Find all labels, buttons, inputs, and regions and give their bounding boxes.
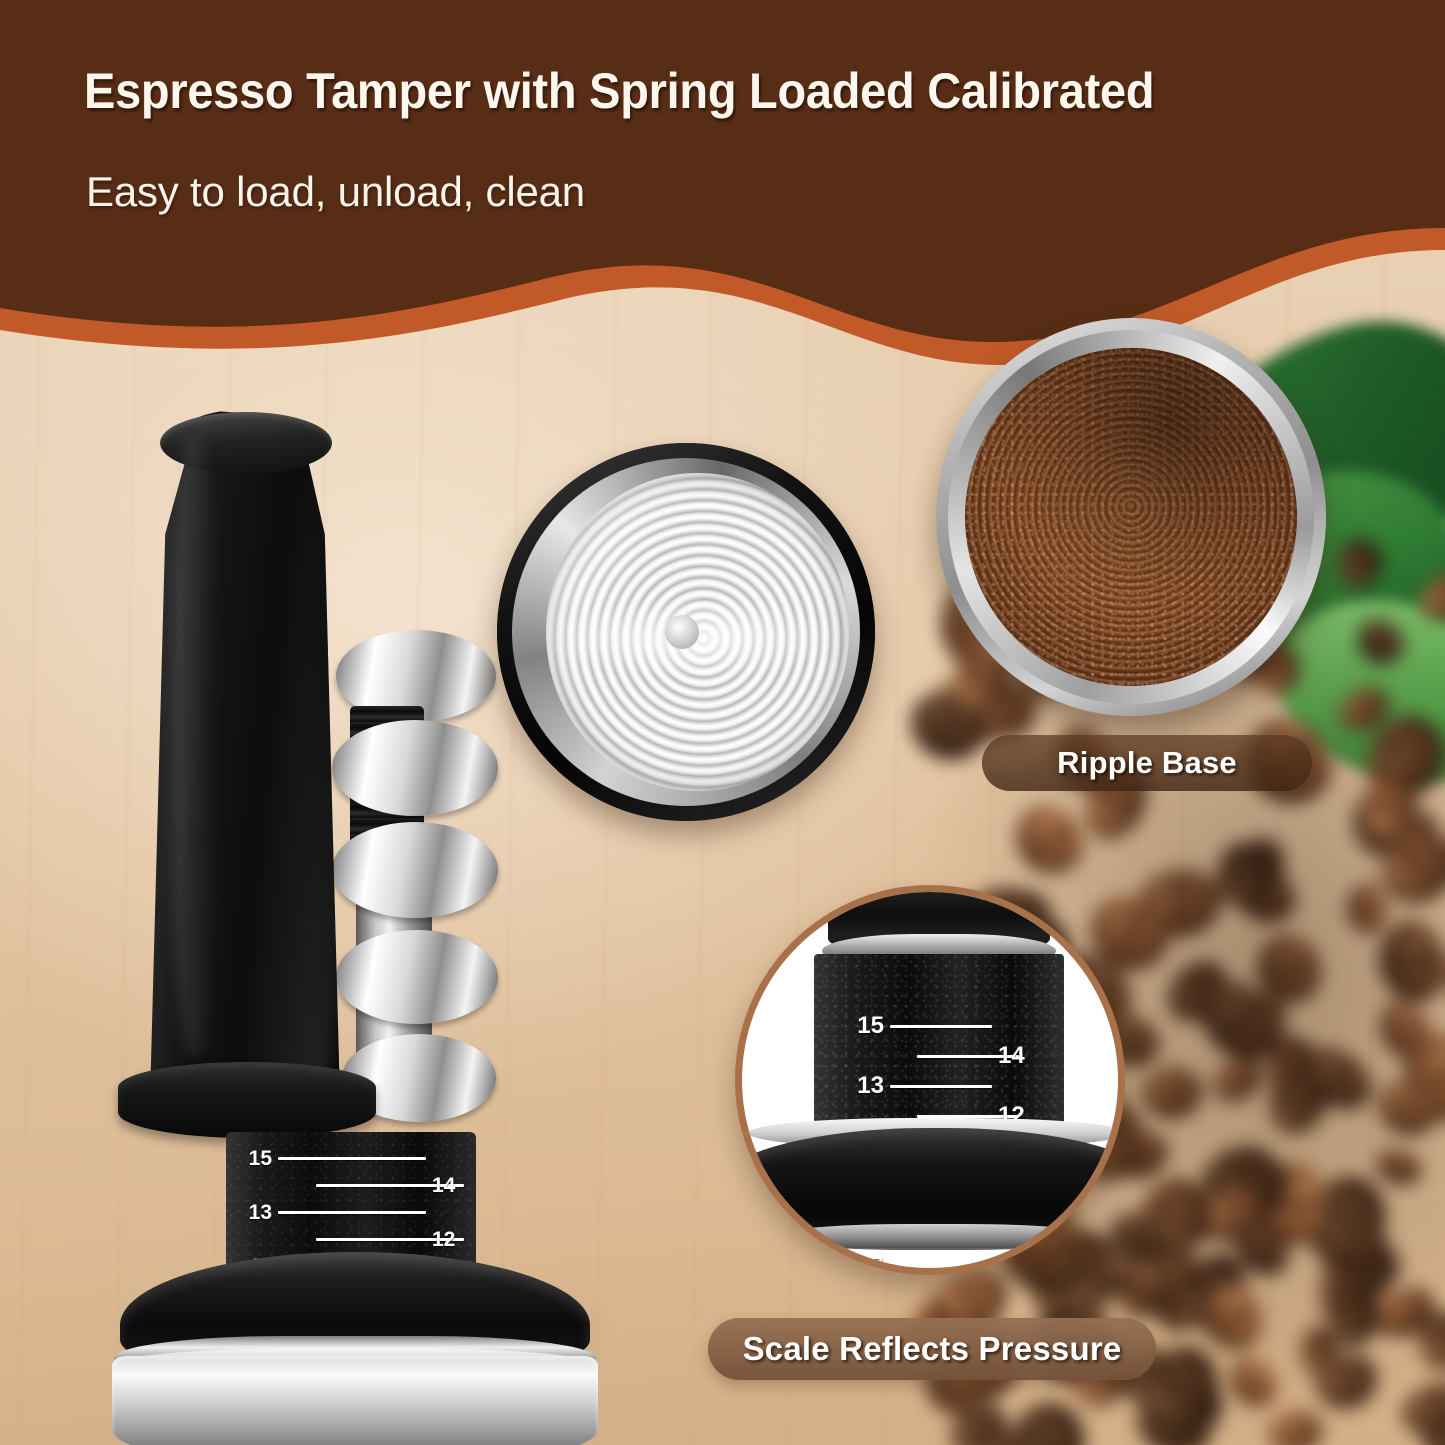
tamper-handle-highlight [172, 436, 218, 1056]
tamper-steel-base [112, 1356, 598, 1445]
badge-ripple-base: Ripple Base [982, 735, 1312, 791]
scale-tick [890, 1025, 992, 1028]
spring-coil [332, 822, 498, 918]
scale-number-right: 14 [426, 1175, 466, 1196]
scale-number-right: 14 [992, 1044, 1036, 1068]
product-marketing-image: Espresso Tamper with Spring Loaded Calib… [0, 0, 1445, 1445]
ripple-base-closeup [497, 443, 875, 821]
portafilter-basket-interior [965, 348, 1297, 686]
scale-tick [278, 1157, 426, 1160]
tamper-handle-flange [118, 1062, 376, 1138]
scale-number-right: 12 [426, 1229, 466, 1250]
scale-number-left: 15 [238, 1148, 278, 1169]
spring-coil [336, 930, 498, 1024]
tamped-grounds-closeup [936, 318, 1326, 716]
scale-number-left: 13 [846, 1074, 890, 1098]
page-subtitle: Easy to load, unload, clean [86, 168, 585, 216]
closeup-bottom-chrome [770, 1224, 1104, 1250]
scale-tick [890, 1265, 992, 1268]
badge-scale-reflects-pressure: Scale Reflects Pressure [708, 1318, 1156, 1380]
scale-closeup: 15001413001211001090087006 [735, 885, 1125, 1275]
scale-tick [278, 1211, 426, 1214]
scale-number-left: 13 [238, 1202, 278, 1223]
scale-number-left: 15 [846, 1014, 890, 1038]
page-title: Espresso Tamper with Spring Loaded Calib… [84, 64, 1268, 119]
ripple-center-dot [665, 615, 699, 649]
grounds-shadow [965, 348, 1297, 686]
spring-coil [332, 720, 498, 816]
scale-tick [890, 1085, 992, 1088]
